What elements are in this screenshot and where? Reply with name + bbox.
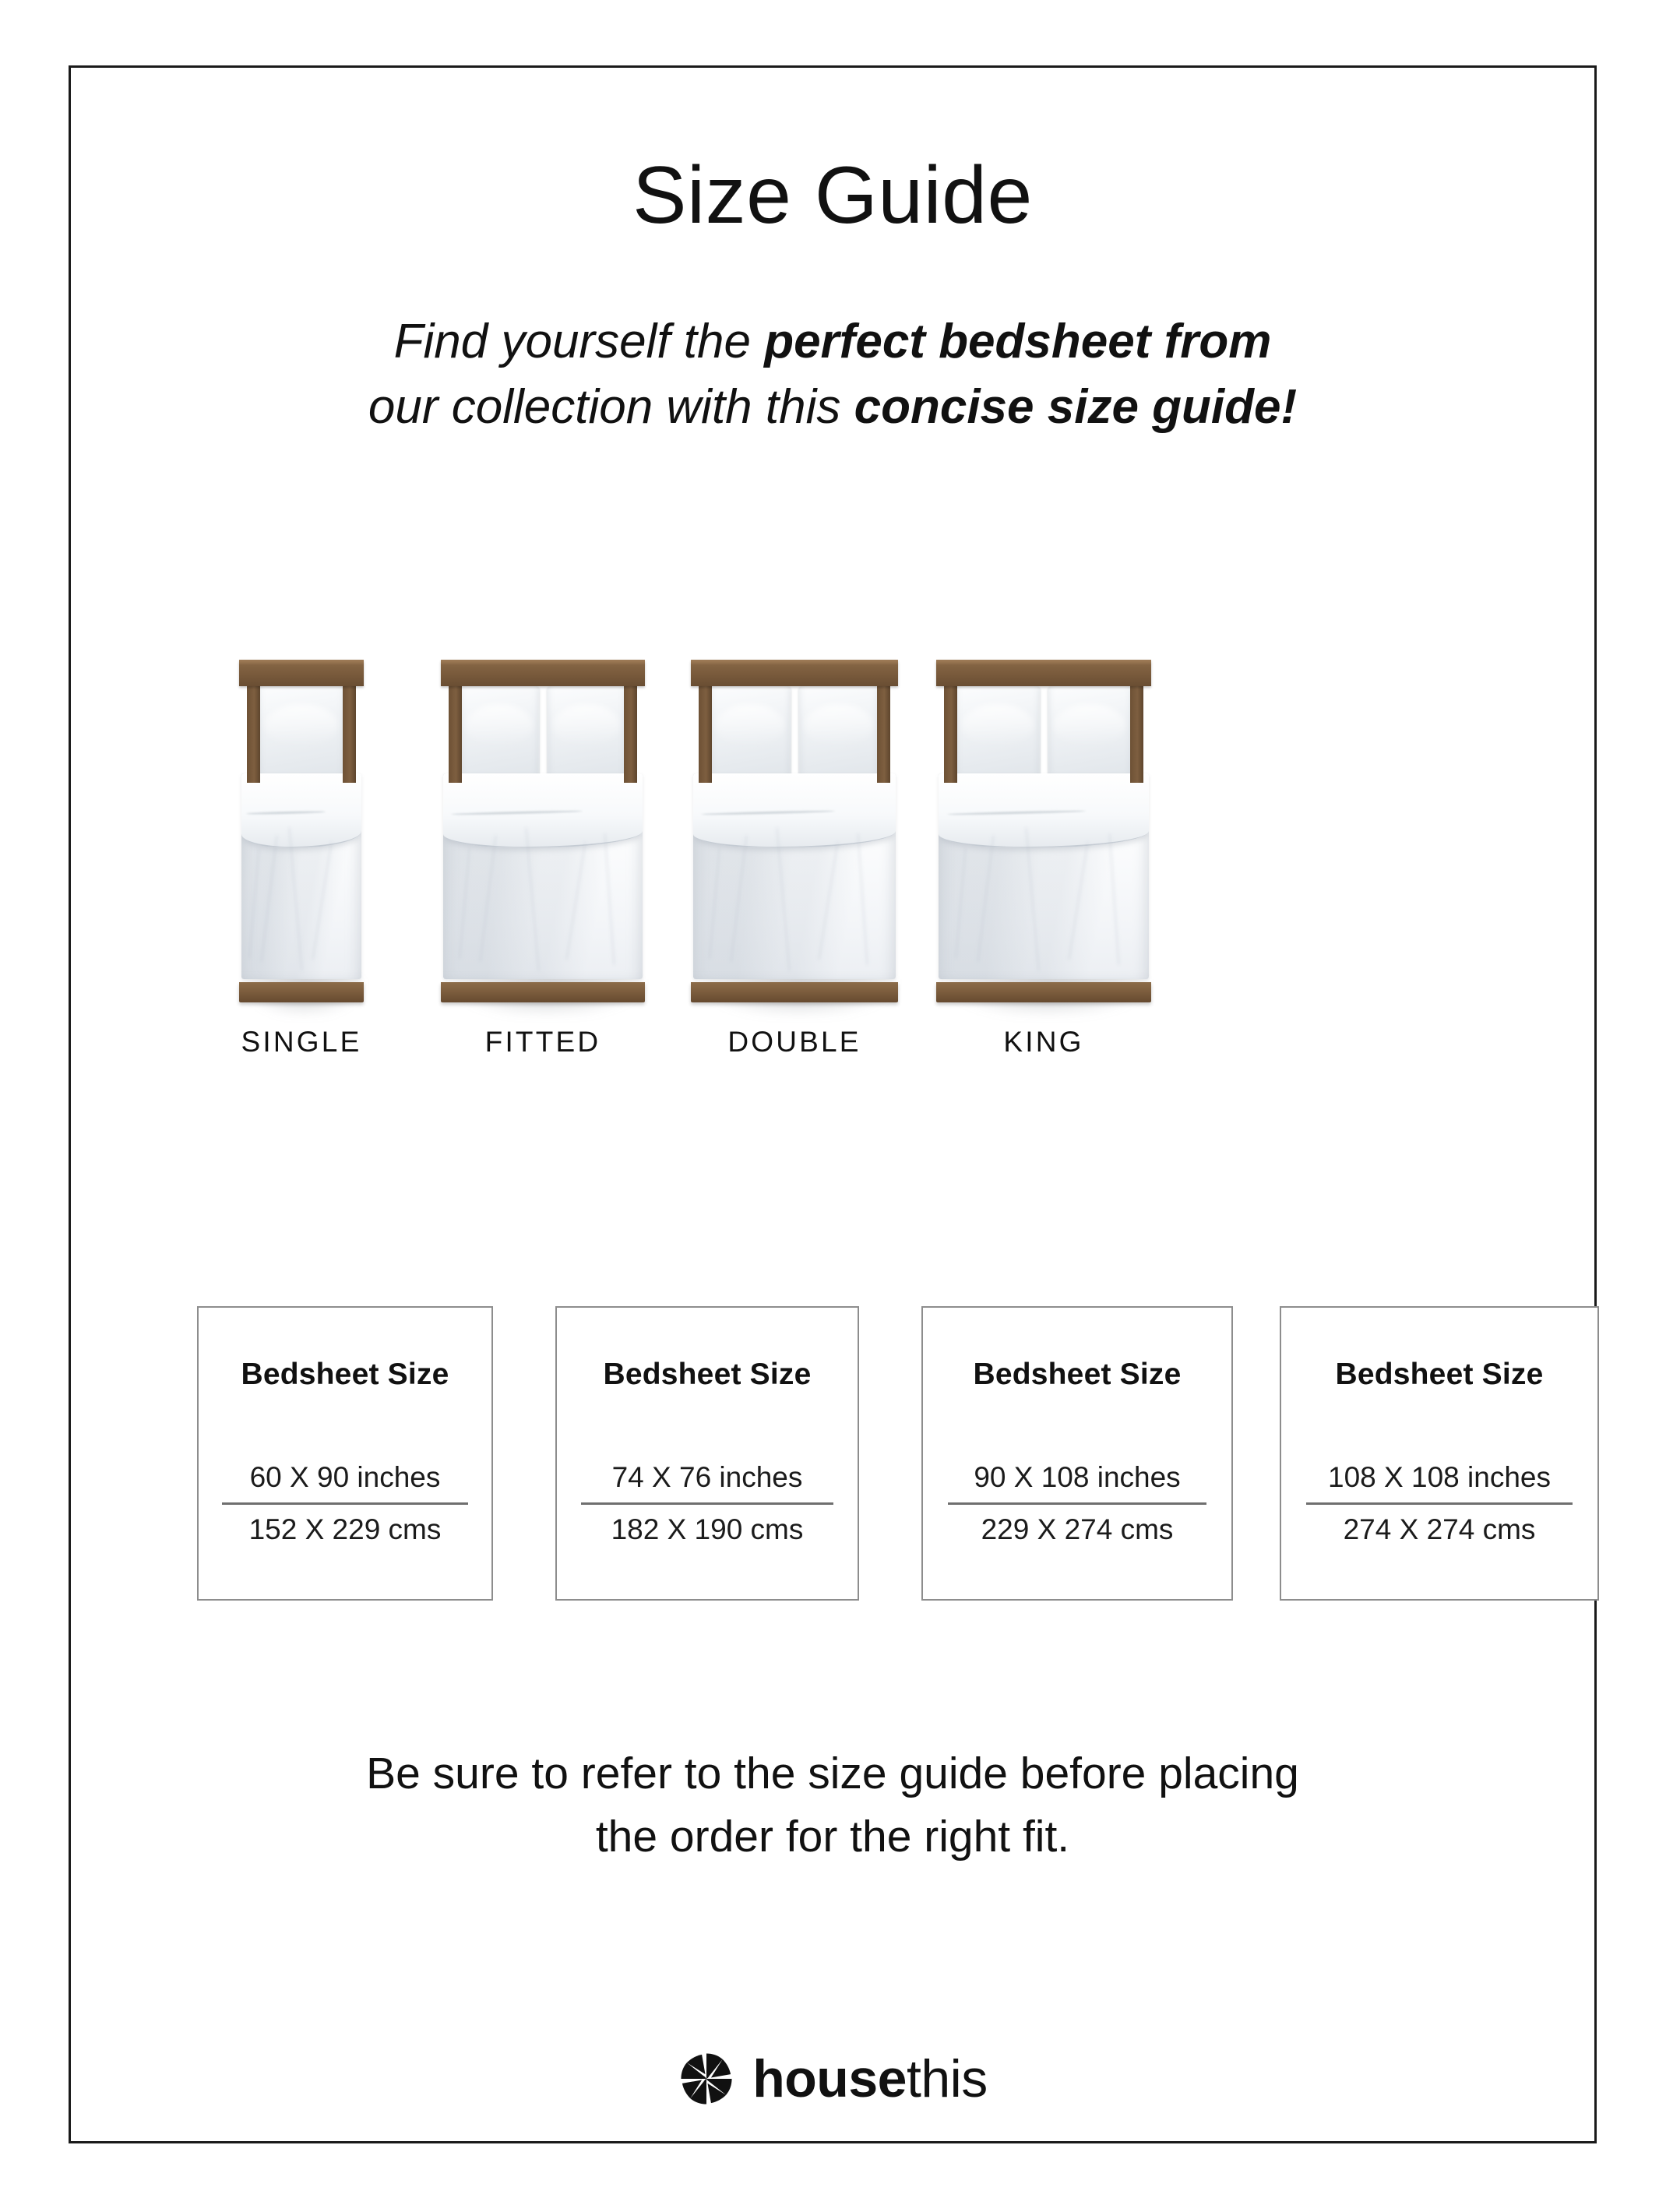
duvet [693, 773, 896, 979]
spec-inches: 90 X 108 inches [948, 1457, 1207, 1499]
headboard [691, 660, 898, 686]
duvet-crease [565, 842, 586, 960]
spec-box-title: Bedsheet Size [241, 1358, 449, 1392]
spec-cms: 229 X 274 cms [948, 1509, 1207, 1551]
footboard [441, 982, 645, 1002]
headboard [239, 660, 364, 686]
subtitle-line-1-normal: Find yourself the [394, 315, 765, 368]
duvet-crease [977, 836, 995, 963]
pillow [798, 686, 880, 784]
bed-rail-right [877, 683, 890, 783]
size-label-fitted: FITTED [434, 1026, 652, 1058]
spec-box-fitted: Bedsheet Size 74 X 76 inches 182 X 190 c… [555, 1306, 859, 1601]
page-subtitle: Find yourself the perfect bedsheet from … [211, 309, 1454, 439]
spec-box-double: Bedsheet Size 90 X 108 inches 229 X 274 … [921, 1306, 1233, 1601]
subtitle-line-1-bold: perfect bedsheet from [764, 315, 1271, 368]
duvet-crease [955, 847, 967, 958]
spec-box-title: Bedsheet Size [603, 1358, 811, 1392]
pillow [710, 686, 791, 784]
bed-rail-right [624, 683, 637, 783]
duvet-crease [604, 833, 616, 965]
duvet-crease [525, 827, 540, 970]
bed-illustration-single [239, 660, 364, 1002]
size-label-king: KING [931, 1026, 1157, 1058]
bed-column-double [685, 605, 904, 1002]
page-title: Size Guide [71, 153, 1594, 238]
poster-frame: Size Guide Find yourself the perfect bed… [69, 65, 1597, 2143]
pillow [1048, 686, 1133, 784]
bed-rail-right [343, 683, 356, 783]
headboard [936, 660, 1151, 686]
bed-rail-left [449, 683, 462, 783]
duvet-crease [818, 842, 839, 960]
duvet-crease [260, 836, 278, 963]
pillow-group [460, 686, 626, 784]
duvet-crease [458, 847, 470, 958]
spec-divider [948, 1502, 1207, 1505]
duvet-crease [857, 833, 868, 965]
footer-note-line-1: Be sure to refer to the size guide befor… [188, 1742, 1478, 1805]
duvet-crease [730, 836, 748, 963]
spec-cms: 182 X 190 cms [581, 1509, 833, 1551]
duvet-crease [776, 827, 791, 970]
duvet-fold [241, 773, 361, 848]
pillow [258, 686, 345, 784]
spec-box-values: 74 X 76 inches 182 X 190 cms [581, 1457, 833, 1551]
footer-note: Be sure to refer to the size guide befor… [188, 1742, 1478, 1869]
spec-box-values: 90 X 108 inches 229 X 274 cms [948, 1457, 1207, 1551]
bed-illustration-fitted [441, 660, 645, 1002]
duvet-crease [248, 847, 260, 958]
bed-column-fitted [434, 605, 652, 1002]
spec-box-title: Bedsheet Size [1335, 1358, 1543, 1392]
brand-wordmark: housethis [752, 2052, 988, 2105]
spec-cms: 274 X 274 cms [1306, 1509, 1572, 1551]
pillow [955, 686, 1041, 784]
duvet-crease [1068, 842, 1089, 960]
duvet [443, 773, 643, 979]
subtitle-line-2-normal: our collection with this [368, 380, 854, 434]
spec-inches: 108 X 108 inches [1306, 1457, 1572, 1499]
bed-illustration-king [936, 660, 1151, 1002]
duvet-crease [312, 842, 333, 960]
duvet-crease [1108, 833, 1120, 965]
duvet [939, 773, 1149, 979]
headboard [441, 660, 645, 686]
spec-divider [1306, 1502, 1572, 1505]
size-label-single: SINGLE [231, 1026, 372, 1058]
bed-rail-left [699, 683, 712, 783]
duvet-crease [288, 827, 303, 970]
spec-box-title: Bedsheet Size [973, 1358, 1181, 1392]
bed-column-king [931, 605, 1157, 1002]
bed-rail-right [1130, 683, 1143, 783]
duvet-fold [443, 773, 643, 848]
subtitle-line-2: our collection with this concise size gu… [211, 375, 1454, 440]
size-labels-row: SINGLE FITTED DOUBLE KING [118, 1026, 1548, 1080]
spec-box-values: 60 X 90 inches 152 X 229 cms [222, 1457, 468, 1551]
duvet-crease [1025, 827, 1040, 970]
bed-column-single [231, 605, 372, 1002]
pillow-group [258, 686, 345, 784]
spec-boxes-row: Bedsheet Size 60 X 90 inches 152 X 229 c… [118, 1306, 1548, 1602]
spec-inches: 60 X 90 inches [222, 1457, 468, 1499]
pillow-group [955, 686, 1132, 784]
brand-name-light: this [907, 2049, 988, 2108]
brand-logo: housethis [71, 2050, 1594, 2108]
pillow [460, 686, 540, 784]
housethis-pinwheel-icon [678, 2050, 735, 2108]
spec-box-single: Bedsheet Size 60 X 90 inches 152 X 229 c… [197, 1306, 493, 1601]
subtitle-line-2-bold: concise size guide! [854, 380, 1298, 434]
spec-box-values: 108 X 108 inches 274 X 274 cms [1306, 1457, 1572, 1551]
footboard [239, 982, 364, 1002]
footboard [691, 982, 898, 1002]
size-label-double: DOUBLE [685, 1026, 904, 1058]
duvet-crease [479, 836, 497, 963]
duvet-fold [939, 773, 1149, 848]
spec-divider [581, 1502, 833, 1505]
size-guide-poster: Size Guide Find yourself the perfect bed… [0, 0, 1659, 2212]
spec-box-king: Bedsheet Size 108 X 108 inches 274 X 274… [1280, 1306, 1599, 1601]
duvet-crease [709, 847, 720, 958]
spec-divider [222, 1502, 468, 1505]
subtitle-line-1: Find yourself the perfect bedsheet from [211, 309, 1454, 375]
bed-rail-left [247, 683, 260, 783]
bed-rail-left [944, 683, 957, 783]
footboard [936, 982, 1151, 1002]
bed-illustration-double [691, 660, 898, 1002]
bed-illustrations-row [118, 605, 1548, 1002]
pillow-group [710, 686, 879, 784]
brand-name-bold: house [752, 2049, 907, 2108]
spec-inches: 74 X 76 inches [581, 1457, 833, 1499]
spec-cms: 152 X 229 cms [222, 1509, 468, 1551]
duvet [241, 773, 361, 979]
pillow [547, 686, 627, 784]
duvet-fold [693, 773, 896, 848]
footer-note-line-2: the order for the right fit. [188, 1805, 1478, 1869]
